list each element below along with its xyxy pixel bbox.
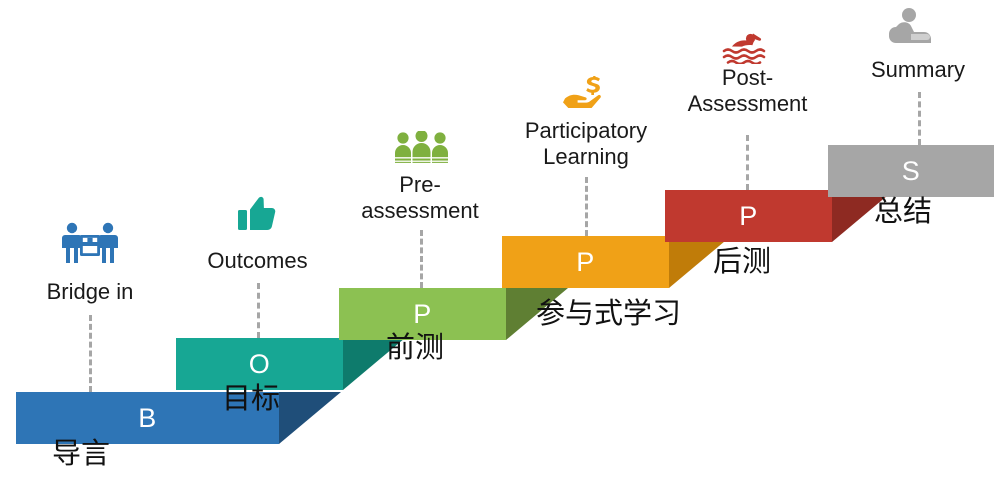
boppps-staircase-diagram: B Bridge in 导言 O xyxy=(0,0,1000,491)
person-reading-icon xyxy=(888,8,934,48)
step-post-assessment[interactable]: P xyxy=(665,190,832,242)
step-letter-bridge-in: B xyxy=(138,405,157,432)
two-people-carrying-box-icon xyxy=(61,222,119,264)
step-cn-pre-assessment: 前测 xyxy=(386,334,444,363)
step-letter-outcomes: O xyxy=(249,351,271,378)
hand-with-dollar-icon xyxy=(563,76,611,108)
step-caption-summary: Summary xyxy=(838,57,998,83)
step-shadow-bridge-in xyxy=(279,392,341,444)
step-letter-post-assessment: P xyxy=(739,203,758,230)
step-caption-pre-assessment: Pre- assessment xyxy=(335,172,505,223)
step-participatory-learning[interactable]: P xyxy=(502,236,669,288)
step-face-summary: S xyxy=(828,145,994,197)
step-caption-participatory-learning: Participatory Learning xyxy=(497,118,675,169)
connector-participatory-learning xyxy=(585,177,588,236)
step-face-participatory-learning: P xyxy=(502,236,669,288)
step-cn-outcomes: 目标 xyxy=(222,385,280,414)
connector-outcomes xyxy=(257,283,260,338)
connector-bridge-in xyxy=(89,315,92,392)
step-caption-bridge-in: Bridge in xyxy=(10,279,170,305)
step-cn-summary: 总结 xyxy=(874,198,932,227)
step-letter-summary: S xyxy=(902,158,921,185)
step-cn-post-assessment: 后测 xyxy=(713,248,771,277)
step-caption-outcomes: Outcomes xyxy=(180,248,335,274)
connector-post-assessment xyxy=(746,135,749,190)
connector-summary xyxy=(918,92,921,145)
step-cn-bridge-in: 导言 xyxy=(52,440,110,469)
step-caption-post-assessment: Post- Assessment xyxy=(665,65,830,116)
connector-pre-assessment xyxy=(420,230,423,288)
step-summary[interactable]: S xyxy=(828,145,994,197)
group-of-people-icon xyxy=(395,131,448,164)
step-letter-participatory-learning: P xyxy=(576,249,595,276)
step-face-post-assessment: P xyxy=(665,190,832,242)
swimmer-icon xyxy=(722,32,770,64)
thumbs-up-icon xyxy=(237,195,277,233)
step-letter-pre-assessment: P xyxy=(413,301,432,328)
step-cn-participatory-learning: 参与式学习 xyxy=(536,300,681,329)
